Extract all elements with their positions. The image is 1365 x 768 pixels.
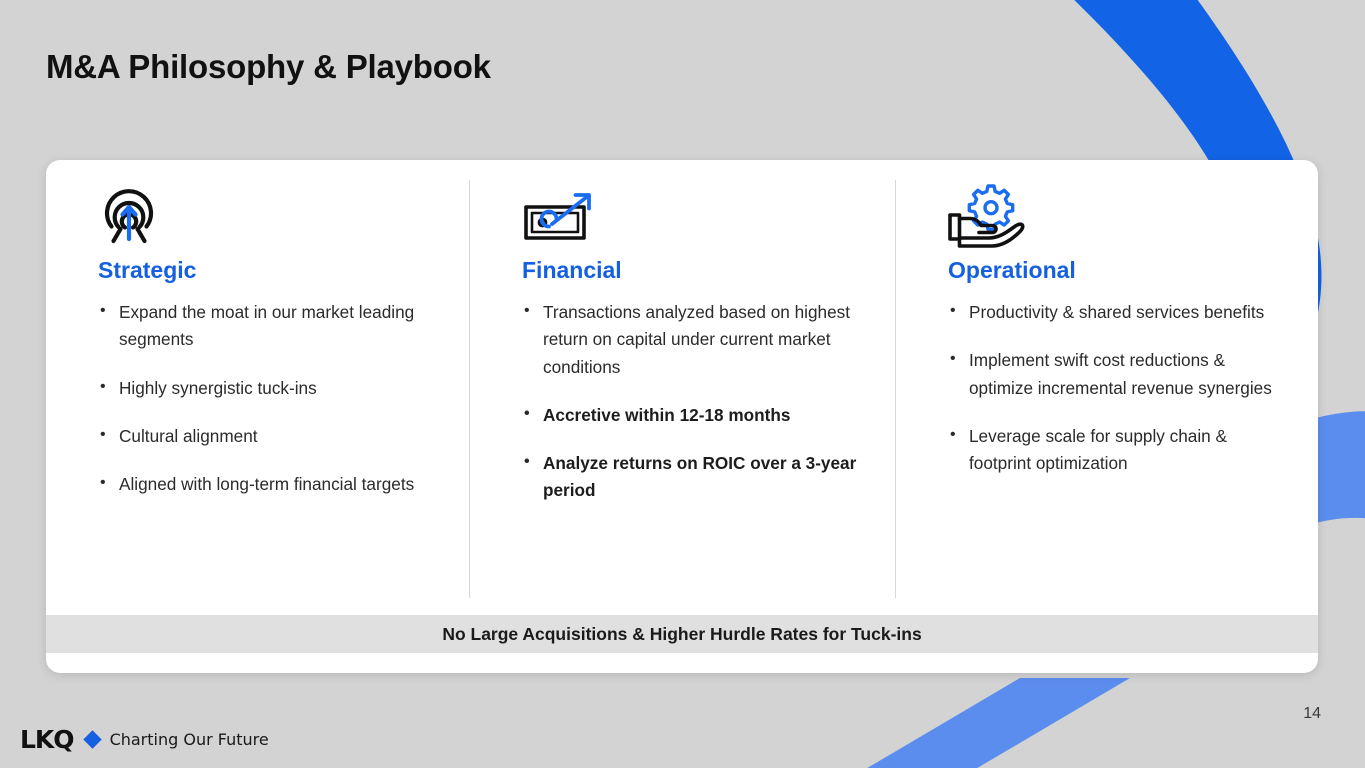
column-divider (469, 180, 470, 598)
column-financial: Financial Transactions analyzed based on… (470, 160, 896, 615)
brand-tagline: Charting Our Future (110, 730, 269, 749)
diamond-icon (83, 730, 101, 748)
page-number: 14 (1303, 705, 1321, 723)
ribbon-light-blue-right (1312, 411, 1365, 524)
hand-shape (950, 215, 1023, 246)
column-operational: Operational Productivity & shared servic… (896, 160, 1318, 615)
list-item: Accretive within 12-18 months (522, 402, 866, 429)
list-item: Transactions analyzed based on highest r… (522, 299, 866, 381)
gear-shape (969, 186, 1012, 229)
page-title: M&A Philosophy & Playbook (46, 48, 491, 86)
icon-wrap-financial (522, 182, 866, 248)
list-item: Productivity & shared services benefits (948, 299, 1288, 326)
footer-banner-text: No Large Acquisitions & Higher Hurdle Ra… (442, 624, 921, 645)
target-arrow-icon (98, 186, 160, 248)
list-item: Analyze returns on ROIC over a 3-year pe… (522, 450, 866, 504)
content-card: Strategic Expand the moat in our market … (46, 160, 1318, 673)
footer-banner: No Large Acquisitions & Higher Hurdle Ra… (46, 615, 1318, 653)
bullet-list-strategic: Expand the moat in our market leading se… (98, 299, 440, 498)
bullet-list-operational: Productivity & shared services benefits … (948, 299, 1288, 477)
column-heading-strategic: Strategic (98, 258, 440, 283)
list-item: Expand the moat in our market leading se… (98, 299, 440, 353)
icon-wrap-operational (948, 182, 1288, 248)
brand-logo: LKQ Charting Our Future (20, 725, 269, 754)
column-heading-financial: Financial (522, 258, 866, 283)
list-item: Leverage scale for supply chain & footpr… (948, 423, 1288, 477)
column-divider (895, 180, 896, 598)
list-item: Highly synergistic tuck-ins (98, 375, 440, 402)
list-item: Cultural alignment (98, 423, 440, 450)
column-strategic: Strategic Expand the moat in our market … (46, 160, 470, 615)
bullet-list-financial: Transactions analyzed based on highest r… (522, 299, 866, 504)
hand-gear-icon (948, 182, 1032, 248)
banknote-growth-icon (522, 190, 596, 248)
ribbon-light-blue-bottom (830, 678, 1130, 768)
list-item: Aligned with long-term financial targets (98, 471, 440, 498)
column-heading-operational: Operational (948, 258, 1288, 283)
list-item: Implement swift cost reductions & optimi… (948, 347, 1288, 401)
icon-wrap-strategic (98, 182, 440, 248)
columns-area: Strategic Expand the moat in our market … (46, 160, 1318, 615)
brand-name: LKQ (20, 725, 74, 754)
